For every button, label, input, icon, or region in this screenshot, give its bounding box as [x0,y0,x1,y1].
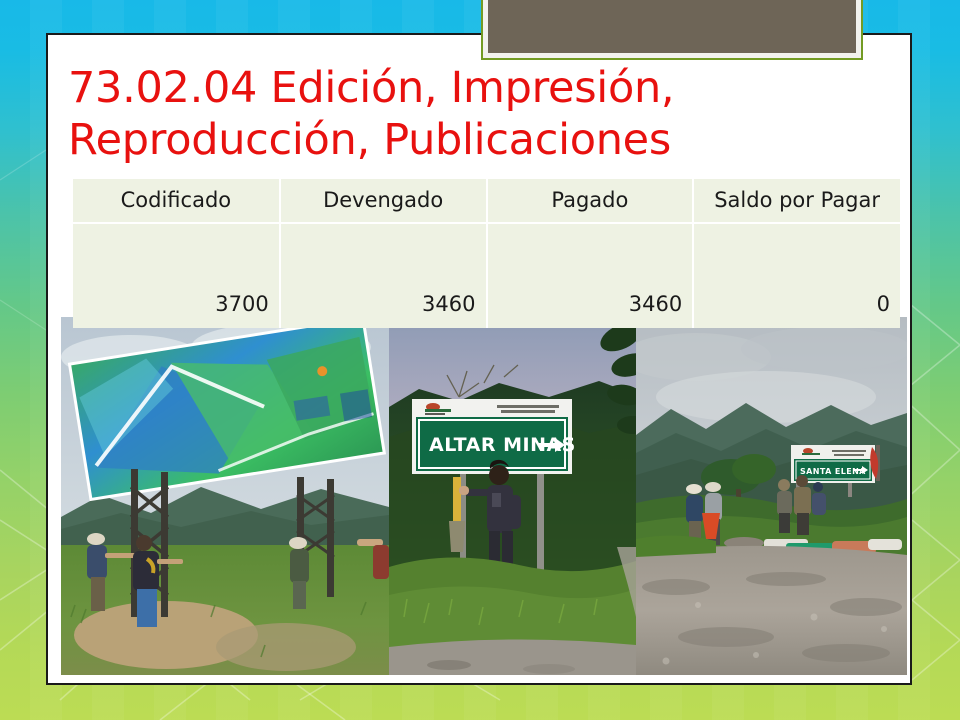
column-header-devengado: Devengado [280,179,487,223]
table-header-row: Codificado Devengado Pagado Saldo por Pa… [73,179,900,223]
photo-santa-elena-sign[interactable]: SANTA ELENA [636,317,907,675]
svg-text:SANTA ELENA: SANTA ELENA [800,467,866,476]
photo-billboard-installation[interactable] [61,317,389,675]
cell-codificado: 3700 [73,223,280,328]
presentation-slide: 73.02.04 Edición, Impresión, Reproducció… [0,0,960,720]
column-header-codificado: Codificado [73,179,280,223]
picture-placeholder-fill [488,0,856,53]
cell-pagado: 3460 [487,223,694,328]
picture-placeholder[interactable] [481,0,863,60]
cell-saldo: 0 [693,223,900,328]
column-header-saldo: Saldo por Pagar [693,179,900,223]
table-row: 3700 3460 3460 0 [73,223,900,328]
photo-altar-minas-sign[interactable]: ALTAR MINAS [389,317,636,675]
photo-strip: ALTAR MINAS [61,317,907,675]
page-title: 73.02.04 Edición, Impresión, Reproducció… [68,62,858,167]
budget-table: Codificado Devengado Pagado Saldo por Pa… [73,179,900,328]
cell-devengado: 3460 [280,223,487,328]
column-header-pagado: Pagado [487,179,694,223]
